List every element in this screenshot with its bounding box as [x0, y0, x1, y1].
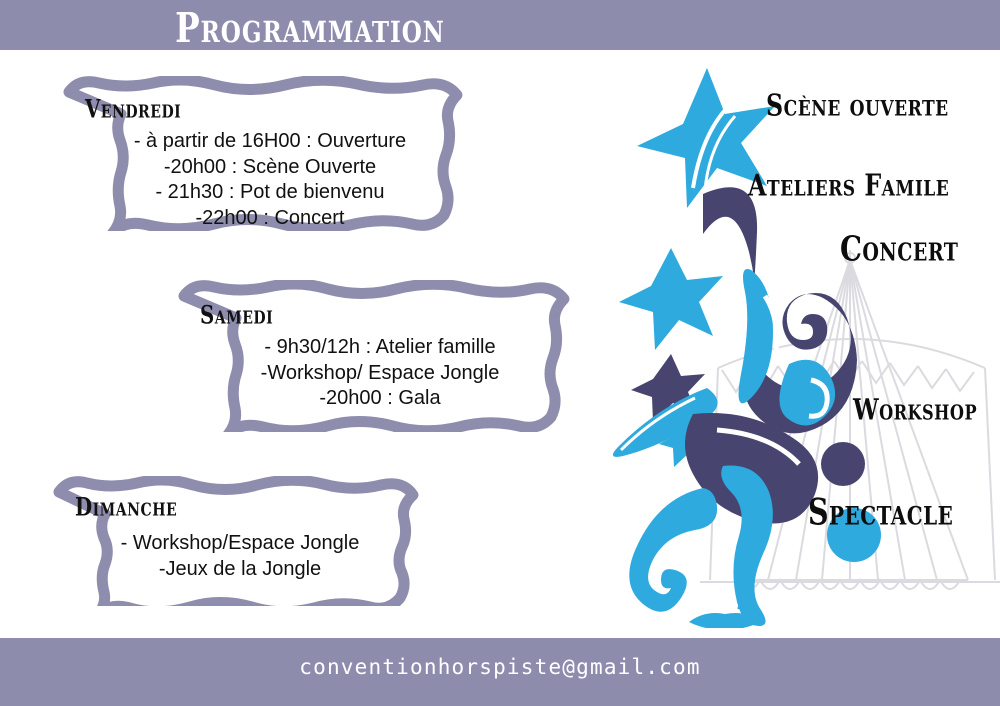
schedule-box-samedi: Samedi - 9h30/12h : Atelier famille -Wor…: [170, 280, 590, 432]
schedule-line: -20h00 : Gala: [200, 386, 560, 412]
day-title-samedi: Samedi: [200, 300, 538, 330]
page-title: Programmation: [12, 4, 607, 53]
acrobat-illustration: [575, 58, 905, 628]
label-concert: Concert: [840, 228, 958, 269]
schedule-line: -Workshop/ Espace Jongle: [200, 361, 560, 387]
schedule-line: - à partir de 16H00 : Ouverture: [85, 129, 455, 155]
label-ateliers-famile: Ateliers Famile: [748, 168, 949, 203]
day-title-vendredi: Vendredi: [85, 94, 433, 124]
day-lines-dimanche: - Workshop/Espace Jongle -Jeux de la Jon…: [75, 531, 405, 582]
navy-ball: [821, 442, 865, 486]
schedule-line: -Jeux de la Jongle: [75, 557, 405, 583]
day-lines-vendredi: - à partir de 16H00 : Ouverture -20h00 :…: [85, 129, 455, 231]
day-lines-samedi: - 9h30/12h : Atelier famille -Workshop/ …: [200, 335, 560, 412]
circus-tent-sketch-icon: [700, 250, 1000, 650]
cyan-ball: [780, 381, 816, 417]
day-title-dimanche: Dimanche: [75, 492, 385, 522]
schedule-line: - 21h30 : Pot de bienvenu: [85, 180, 455, 206]
programmation-poster: Programmation Vendredi - à partir de 16H…: [0, 0, 1000, 706]
schedule-line: -22h00 : Concert: [85, 206, 455, 232]
schedule-box-dimanche: Dimanche - Workshop/Espace Jongle -Jeux …: [45, 476, 435, 606]
contact-email[interactable]: conventionhorspiste@gmail.com: [0, 655, 1000, 679]
label-workshop: Workshop: [853, 392, 977, 427]
label-scene-ouverte: Scène ouverte: [766, 88, 949, 123]
schedule-line: - 9h30/12h : Atelier famille: [200, 335, 560, 361]
schedule-box-vendredi: Vendredi - à partir de 16H00 : Ouverture…: [55, 76, 485, 231]
label-spectacle: Spectacle: [808, 492, 953, 534]
schedule-line: -20h00 : Scène Ouverte: [85, 155, 455, 181]
schedule-line: - Workshop/Espace Jongle: [75, 531, 405, 557]
